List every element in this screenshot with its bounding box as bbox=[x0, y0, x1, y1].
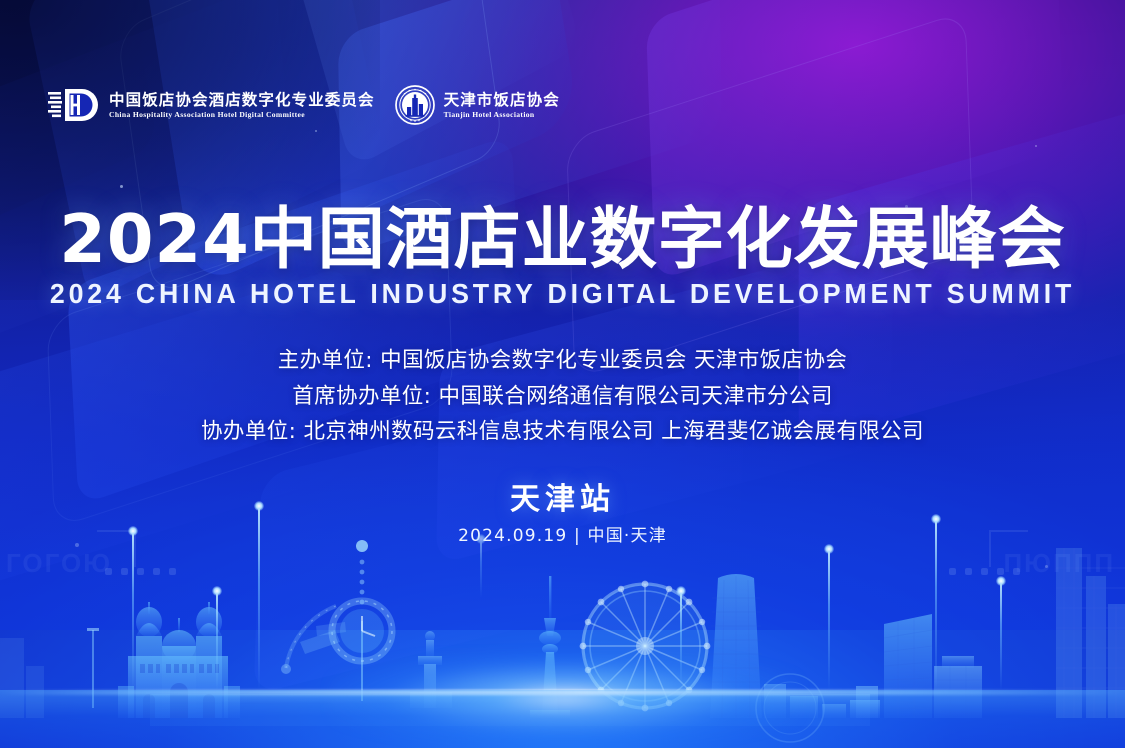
landmark-xikai-cathedral bbox=[118, 602, 240, 718]
logo-tianjin-cn-label: 天津市饭店协会 bbox=[444, 91, 560, 109]
bg-shape-2 bbox=[0, 0, 296, 369]
sparkle-dot bbox=[315, 130, 317, 132]
logo-tianjin-hotel-association: 天津市饭店协会 Tianjin Hotel Association bbox=[395, 85, 560, 125]
light-pole bbox=[680, 590, 682, 686]
organizer-line-coorganizers: 协办单位: 北京神州数码云科信息技术有限公司 上海君斐亿诚会展有限公司 bbox=[0, 421, 1125, 443]
light-pole bbox=[132, 530, 134, 690]
cha-digital-committee-logo-icon bbox=[48, 87, 100, 123]
skyline-low-blocks bbox=[764, 684, 846, 718]
bg-outline-2 bbox=[566, 11, 974, 380]
horizon-light-streak bbox=[0, 690, 1125, 695]
landmark-ctf-finance-centre bbox=[710, 574, 762, 718]
sparkle-dot bbox=[1035, 145, 1037, 147]
skyline-small-wheel bbox=[756, 674, 824, 742]
logo-bar: 中国饭店协会酒店数字化专业委员会 China Hospitality Assoc… bbox=[48, 84, 560, 126]
organizers-block: 主办单位: 中国饭店协会数字化专业委员会 天津市饭店协会 首席协办单位: 中国联… bbox=[0, 350, 1125, 457]
landmark-radio-tv-tower bbox=[530, 576, 570, 718]
organizer-line-host: 主办单位: 中国饭店协会数字化专业委员会 天津市饭店协会 bbox=[0, 350, 1125, 372]
page-title-en: 2024 CHINA HOTEL INDUSTRY DIGITAL DEVELO… bbox=[25, 280, 1099, 308]
light-pole bbox=[480, 538, 482, 598]
station-block: 天津站 2024.09.19 | 中国·天津 bbox=[0, 485, 1125, 545]
station-date: 2024.09.19 | 中国·天津 bbox=[0, 528, 1125, 545]
logo-cha-en-label: China Hospitality Association Hotel Digi… bbox=[109, 110, 375, 119]
page-title-cn: 2024中国酒店业数字化发展峰会 bbox=[0, 205, 1125, 273]
logo-cha-digital-committee: 中国饭店协会酒店数字化专业委员会 China Hospitality Assoc… bbox=[48, 87, 375, 123]
logo-tianjin-en-label: Tianjin Hotel Association bbox=[444, 110, 560, 119]
bg-dots-left bbox=[105, 568, 176, 575]
bg-watermark-left: ГОГОЮ bbox=[6, 548, 112, 579]
light-pole bbox=[1000, 580, 1002, 690]
light-pole bbox=[216, 590, 218, 690]
landmark-monument-column bbox=[410, 631, 452, 708]
skyline-far-left-grid bbox=[0, 638, 44, 718]
skyline-right-towers bbox=[850, 614, 982, 718]
horizon-glow bbox=[330, 655, 800, 745]
station-name: 天津站 bbox=[0, 485, 1125, 515]
organizer-line-chief-coorganizer: 首席协办单位: 中国联合网络通信有限公司天津市分公司 bbox=[0, 386, 1125, 408]
title-block: 2024中国酒店业数字化发展峰会 2024 CHINA HOTEL INDUST… bbox=[0, 205, 1125, 308]
skyline-lamp-left bbox=[87, 628, 99, 708]
landmark-tianjin-eye-ferris-wheel bbox=[580, 581, 711, 712]
landmark-world-financial-clock bbox=[281, 540, 392, 701]
skyline-far-right-grid bbox=[1056, 548, 1125, 718]
logo-cha-cn-label: 中国饭店协会酒店数字化专业委员会 bbox=[109, 91, 375, 109]
bg-dots-right bbox=[949, 568, 1020, 575]
tianjin-skyline-silhouette bbox=[0, 518, 1125, 748]
summit-poster: ГОГОЮ ПЮППП bbox=[0, 0, 1125, 748]
bg-watermark-right: ПЮППП bbox=[1003, 548, 1115, 579]
sparkle-dot bbox=[120, 185, 123, 188]
sparkle-dot bbox=[1045, 565, 1048, 568]
tianjin-hotel-association-emblem-icon bbox=[395, 85, 435, 125]
base-glow bbox=[0, 690, 1125, 748]
light-pole bbox=[828, 548, 830, 690]
cathedral-windows bbox=[140, 664, 219, 718]
